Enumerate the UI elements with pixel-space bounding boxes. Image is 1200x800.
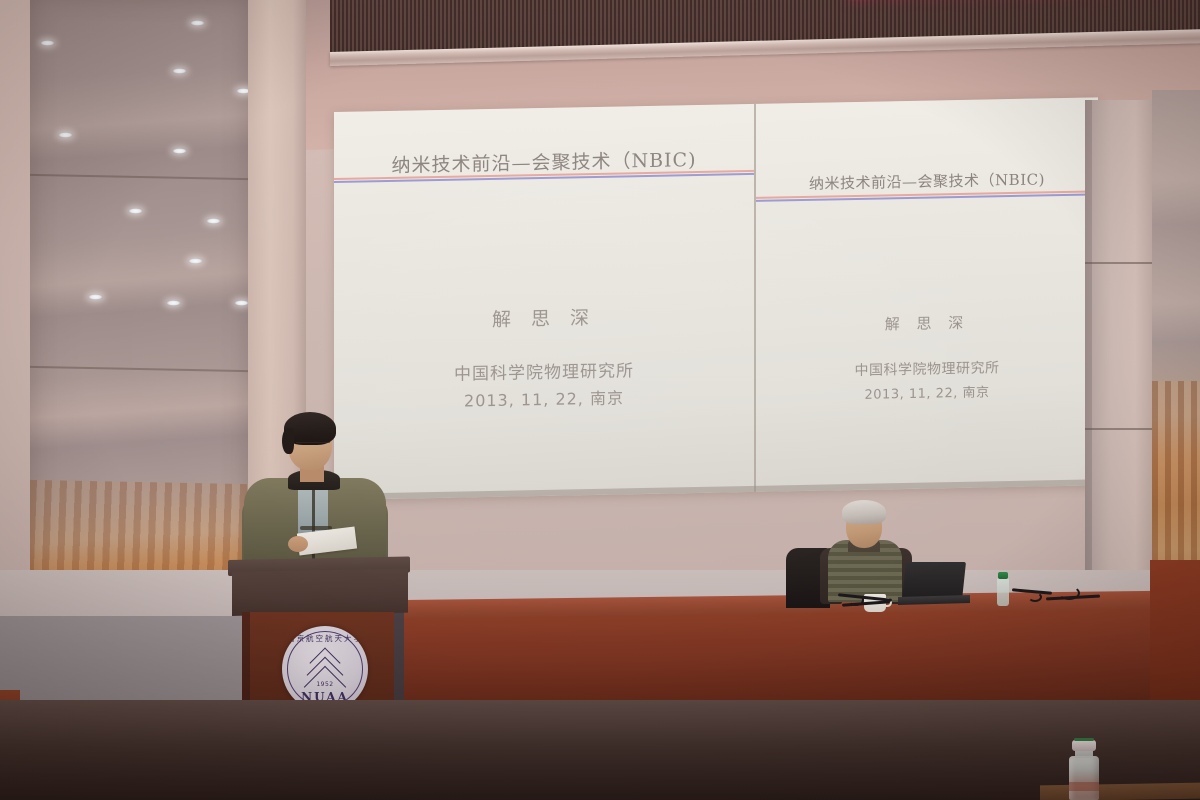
ceiling-light-icon — [172, 148, 187, 154]
laptop-screen — [902, 562, 966, 600]
ceiling-light-icon — [166, 300, 181, 306]
projection-screen-area: 纳米技术前沿—会聚技术（NBIC) 解 思 深 中国科学院物理研究所 2013,… — [334, 97, 1098, 500]
table-water-bottle — [997, 578, 1009, 606]
stage-front-dark — [0, 700, 1200, 800]
cable-loop — [1028, 592, 1042, 602]
emblem-founding-year: 1952 — [282, 681, 368, 688]
ceiling-light-icon — [234, 300, 249, 306]
av-cables-right — [1012, 584, 1100, 606]
table-water-bottle-cap — [998, 572, 1008, 579]
podium-lectern-surface — [232, 569, 408, 616]
av-cables-left — [838, 592, 898, 608]
slide-date-place: 2013, 11, 22, 南京 — [334, 382, 754, 414]
ceiling-light-icon — [172, 68, 187, 74]
ceiling-light-icon — [128, 208, 143, 214]
ceiling-light-icon — [190, 20, 205, 26]
foreground-bottle-cap — [1072, 740, 1096, 751]
ceiling-light-icon — [188, 258, 203, 264]
foreground-water-bottle — [1069, 756, 1099, 800]
pillar-seam — [1085, 428, 1155, 430]
cable-loop — [848, 594, 864, 606]
slide-affiliation-secondary: 中国科学院物理研究所 — [756, 355, 1098, 382]
foreground-ledge — [1040, 783, 1200, 800]
guest-hair — [842, 500, 886, 524]
slide-author: 解 思 深 — [334, 300, 754, 335]
main-projection-slide: 纳米技术前沿—会聚技术（NBIC) 解 思 深 中国科学院物理研究所 2013,… — [334, 104, 754, 500]
pillar-seam — [1085, 262, 1155, 264]
ceiling-light-icon — [58, 132, 73, 138]
ceiling-light-icon — [40, 40, 55, 46]
slide-author-secondary: 解 思 深 — [756, 309, 1098, 337]
lecture-hall-photo: 为力—问天科学讲坛 解思深院士报告会 纳米技术前沿—会聚技术（NBIC) 解 思… — [0, 0, 1200, 800]
led-banner-line-2: 解思深院士报告会 — [848, 0, 1120, 7]
emblem-chinese-name: 南京航空航天大学 — [282, 633, 368, 644]
slide-date-place-secondary: 2013, 11, 22, 南京 — [756, 379, 1098, 405]
slide-affiliation: 中国科学院物理研究所 — [334, 354, 754, 387]
foreground-bottle-label — [1069, 782, 1099, 791]
secondary-projection-slide: 纳米技术前沿—会聚技术（NBIC) 解 思 深 中国科学院物理研究所 2013,… — [756, 97, 1098, 492]
speaker-hand — [288, 536, 308, 552]
ceiling-light-icon — [88, 294, 103, 300]
speaker-glasses-icon — [296, 442, 330, 450]
cable-loop — [1058, 586, 1080, 600]
right-pillar — [1092, 100, 1154, 640]
ceiling-light-icon — [206, 218, 221, 224]
speaker-hair-side — [282, 428, 294, 454]
glass-reflection-panel — [30, 0, 248, 604]
